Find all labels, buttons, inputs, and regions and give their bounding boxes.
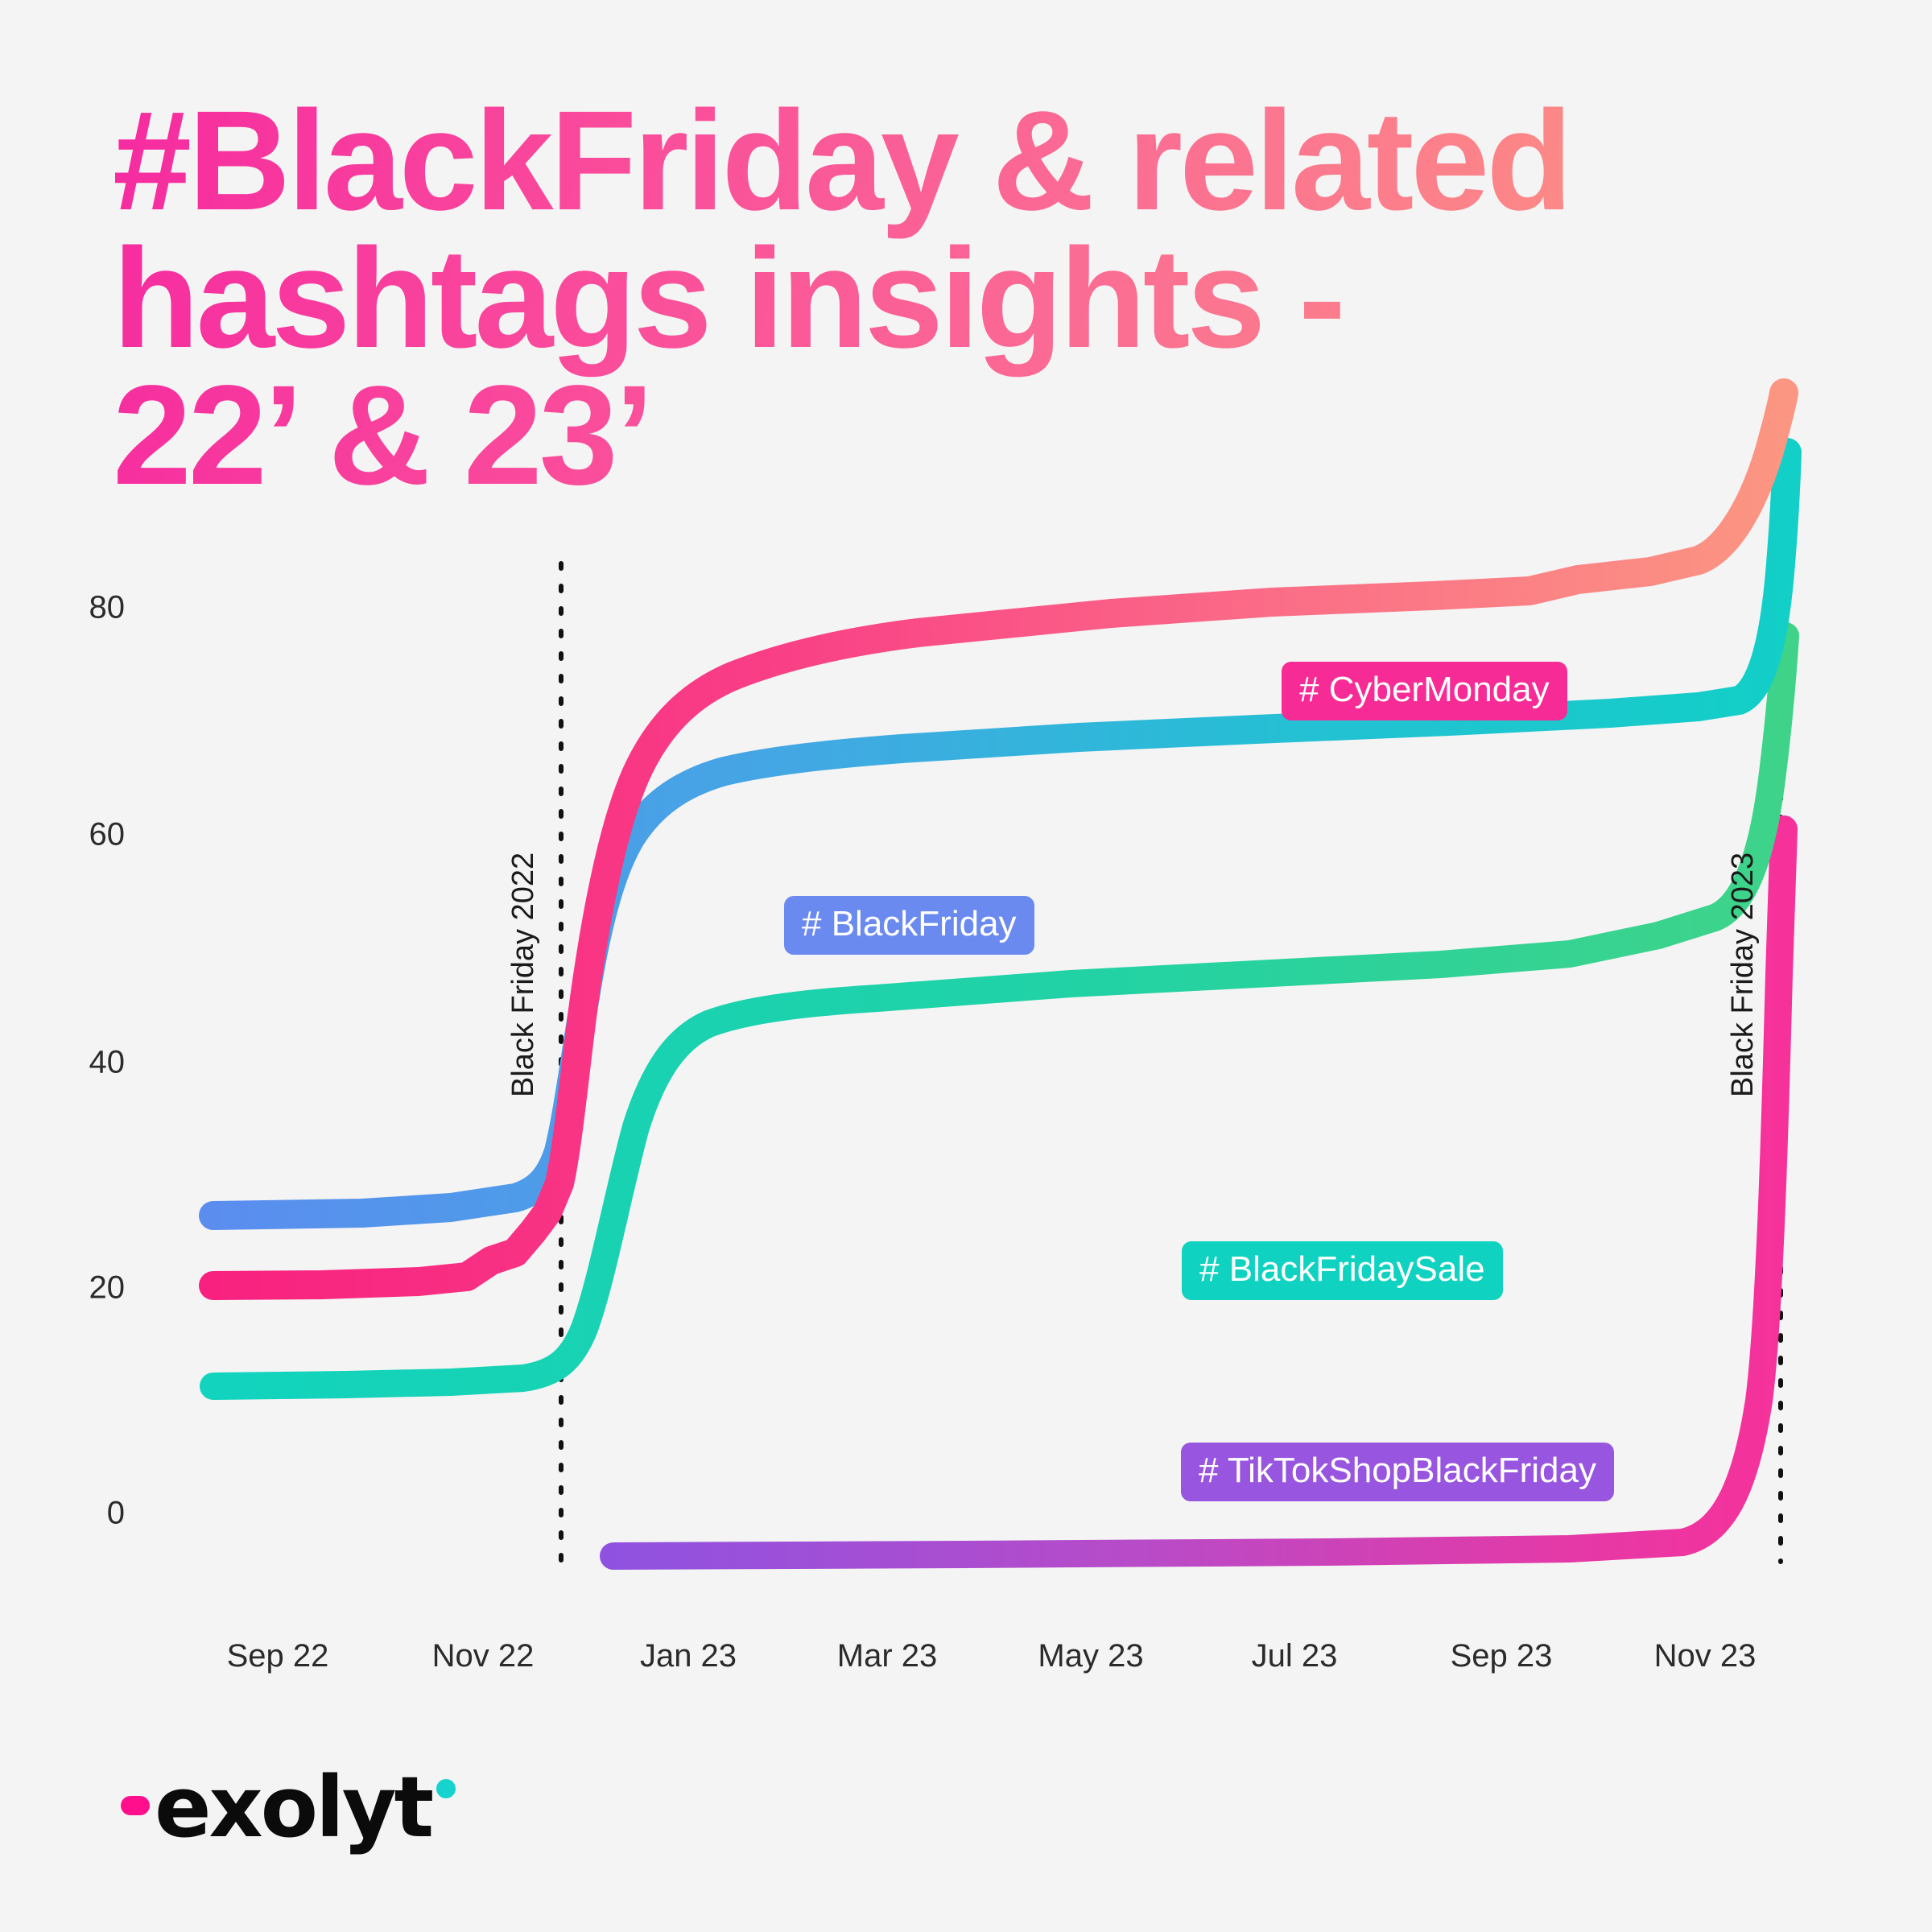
y-tick-40: 40 [89, 1045, 126, 1081]
exolyt-logo: exolyt [121, 1759, 456, 1856]
y-tick-60: 60 [89, 817, 126, 853]
x-tick-jul-23: Jul 23 [1252, 1638, 1338, 1674]
logo-dot-icon [436, 1779, 456, 1798]
x-tick-nov-22: Nov 22 [432, 1638, 535, 1674]
series-badge-blackfridaysale[interactable]: # BlackFridaySale [1182, 1241, 1503, 1300]
series-line-blackfriday [213, 452, 1787, 1216]
x-tick-jan-23: Jan 23 [640, 1638, 737, 1674]
x-tick-may-23: May 23 [1038, 1638, 1143, 1674]
chart-canvas: 80 60 40 20 0 Sep 22 Nov 22 Jan 23 Mar 2… [0, 0, 1932, 1932]
x-tick-mar-23: Mar 23 [837, 1638, 938, 1674]
annotation-label-black-friday-2023: Black Friday 2023 [1726, 852, 1761, 1097]
x-tick-sep-22: Sep 22 [227, 1638, 329, 1674]
series-badge-blackfriday[interactable]: # BlackFriday [784, 896, 1034, 955]
logo-dash-icon [121, 1796, 150, 1815]
y-tick-20: 20 [89, 1270, 126, 1307]
x-tick-nov-23: Nov 23 [1654, 1638, 1757, 1674]
y-tick-0: 0 [107, 1496, 125, 1532]
series-badge-tiktokshopblackfriday[interactable]: # TikTokShopBlackFriday [1181, 1443, 1614, 1501]
annotation-label-black-friday-2022: Black Friday 2022 [506, 852, 541, 1097]
series-line-cybermonday [213, 393, 1784, 1286]
y-tick-80: 80 [89, 590, 126, 626]
x-tick-sep-23: Sep 23 [1451, 1638, 1553, 1674]
logo-wordmark: exolyt [155, 1765, 431, 1849]
series-badge-cybermonday[interactable]: # CyberMonday [1282, 662, 1567, 720]
